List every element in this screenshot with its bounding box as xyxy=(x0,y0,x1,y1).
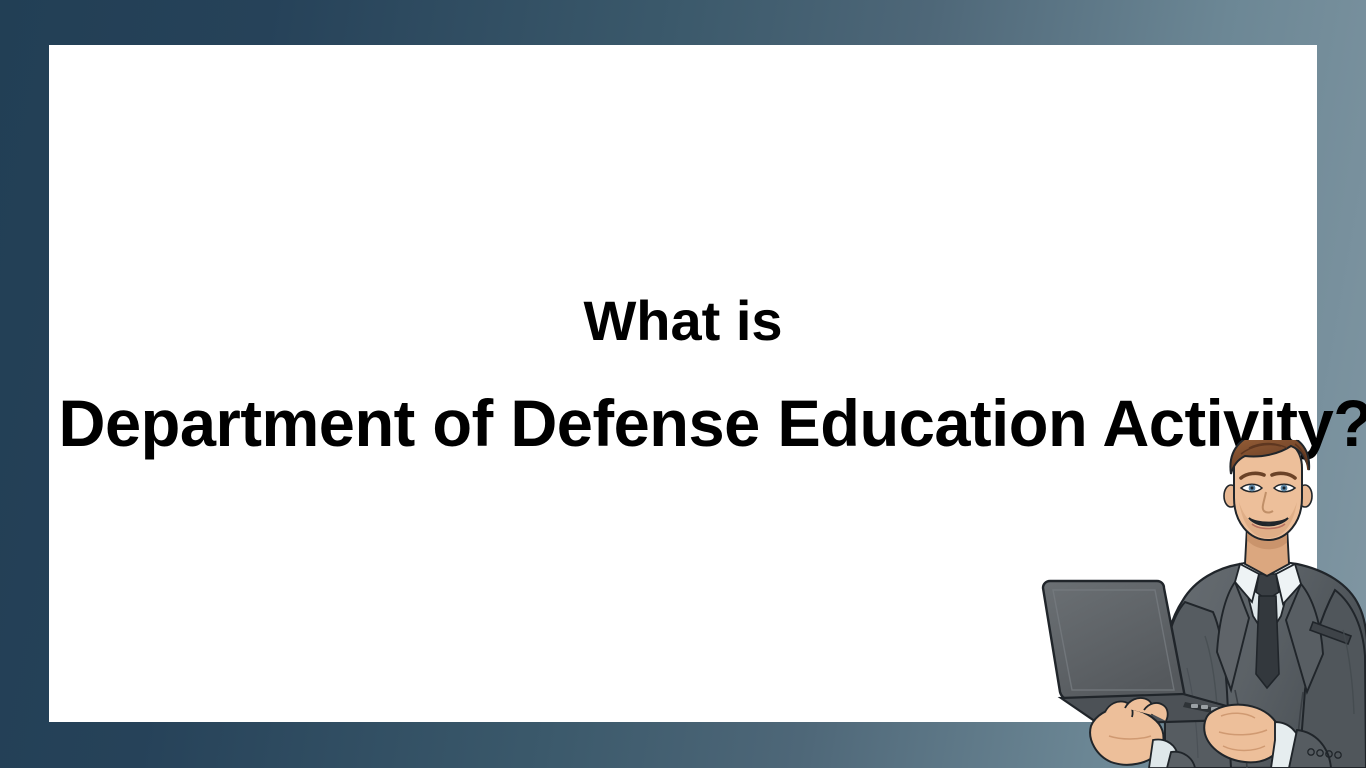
page-title-line-1: What is xyxy=(49,292,1317,351)
page-title-line-2: Department of Defense Education Activity… xyxy=(59,389,1308,458)
content-panel: What is Department of Defense Education … xyxy=(49,45,1317,722)
slide-root: What is Department of Defense Education … xyxy=(0,0,1366,768)
